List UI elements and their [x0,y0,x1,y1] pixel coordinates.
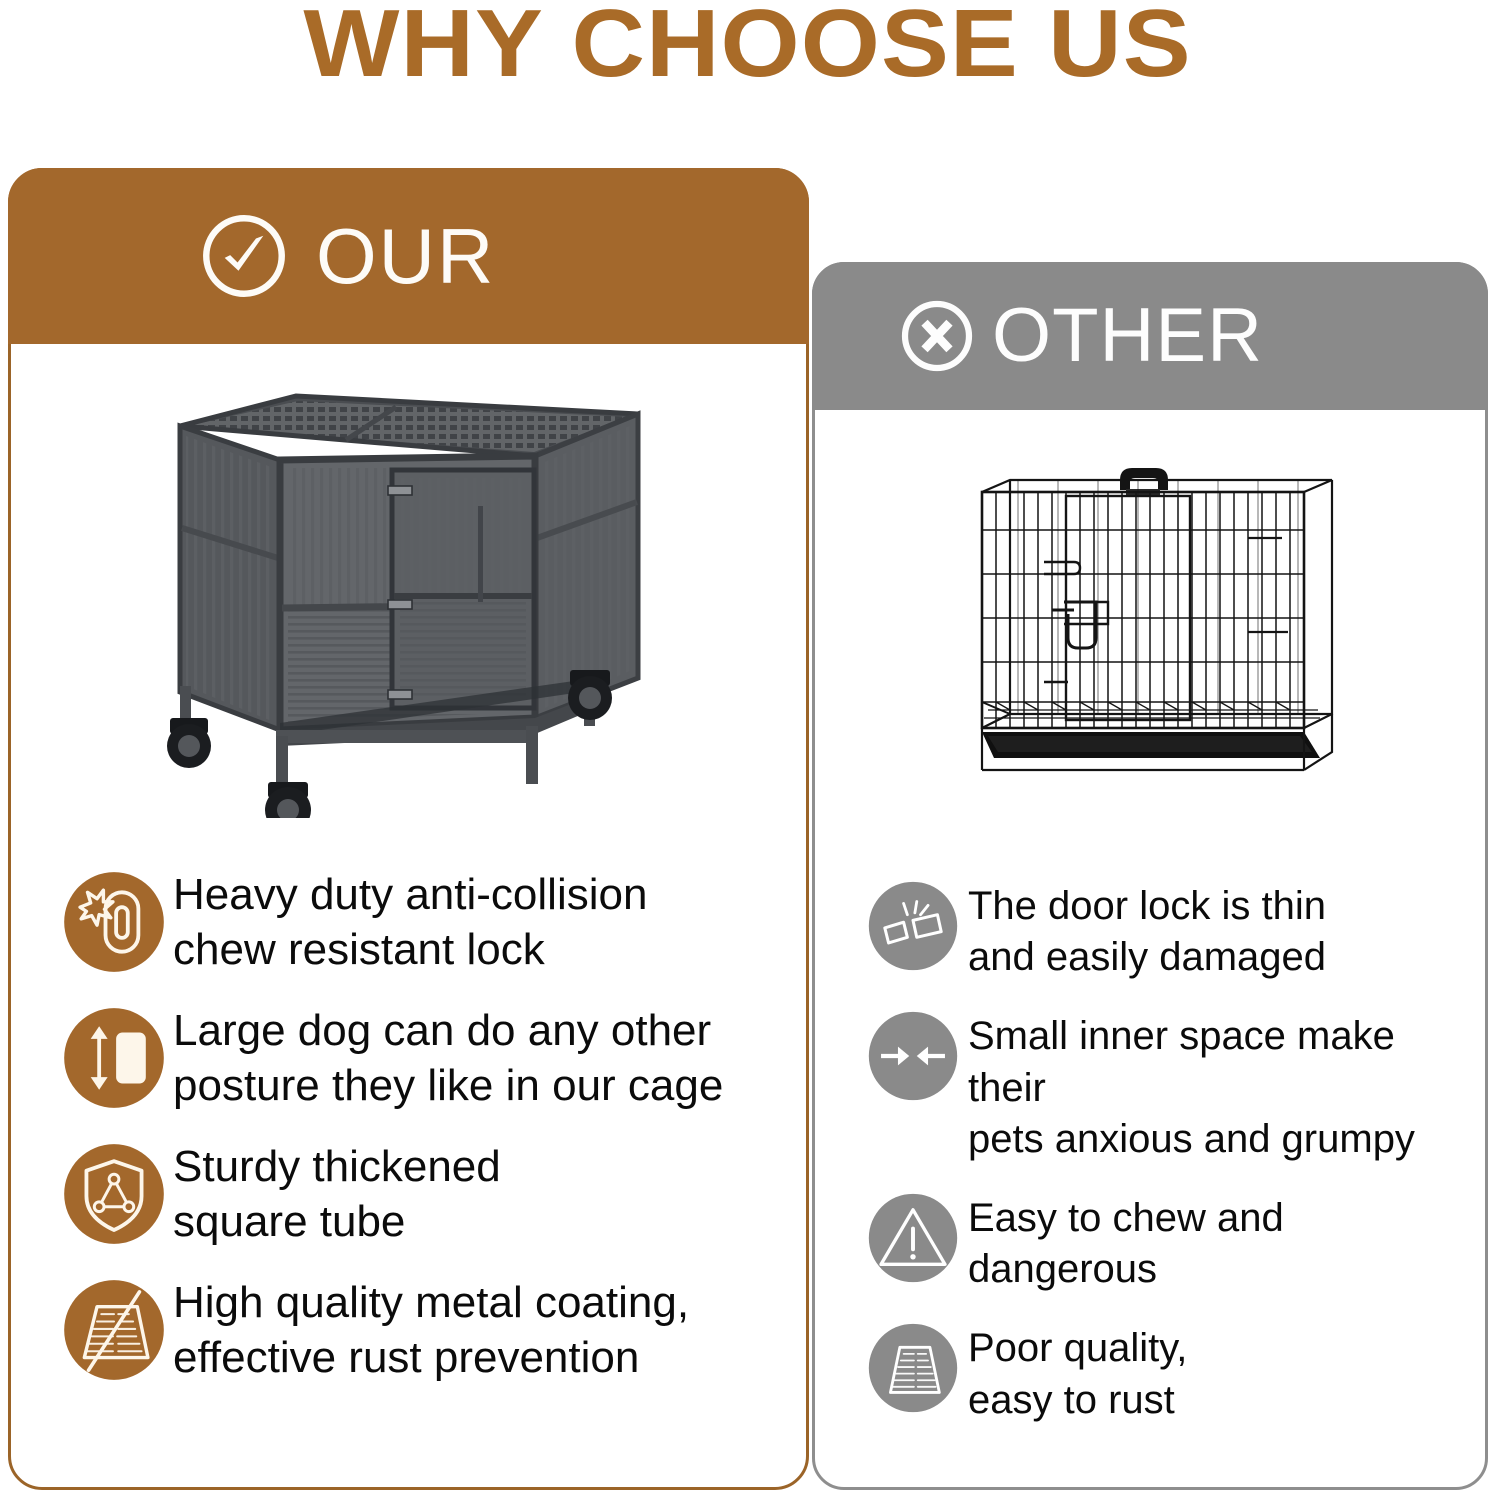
thin-wire-dog-crate-image [948,452,1338,792]
feature-text: The door lock is thin and easily damaged [968,875,1326,983]
our-feature-list: Heavy duty anti-collision chew resistant… [55,865,785,1409]
page-title: WHY CHOOSE US [0,0,1495,92]
feature-item-easy-to-chew: Easy to chew and dangerous [858,1187,1468,1295]
caster-wheel [167,718,211,768]
feature-item-anti-collision-lock: Heavy duty anti-collision chew resistant… [55,865,785,978]
feature-icon-wrap [858,875,968,973]
feature-text: Sturdy thickened square tube [173,1137,501,1250]
our-panel-title: OUR [316,217,495,295]
feature-icon-wrap [858,1317,968,1415]
feature-item-rust-prevention: High quality metal coating, effective ru… [55,1273,785,1386]
feature-text: Easy to chew and dangerous [968,1187,1284,1295]
feature-icon-wrap [858,1005,968,1103]
feature-item-poor-quality-rust: Poor quality, easy to rust [858,1317,1468,1425]
feature-text: Small inner space make their pets anxiou… [968,1005,1468,1165]
heavy-duty-metal-dog-crate-image [140,378,660,818]
feature-item-inner-space: Large dog can do any other posture they … [55,1001,785,1114]
feature-text: Poor quality, easy to rust [968,1317,1187,1425]
feature-icon-wrap [858,1187,968,1285]
plastic-tray [982,732,1320,758]
narrow-space-icon [866,1009,960,1103]
feature-text: Heavy duty anti-collision chew resistant… [173,865,647,978]
feature-icon-wrap [55,1137,173,1247]
x-circle-icon [898,297,976,375]
our-panel-header: OUR [8,168,809,344]
feature-item-thin-door-lock: The door lock is thin and easily damaged [858,875,1468,983]
broken-lock-icon [866,879,960,973]
rusty-surface-icon [866,1321,960,1415]
anti-collision-lock-icon [61,869,167,975]
inner-space-size-icon [61,1005,167,1111]
feature-text: Large dog can do any other posture they … [173,1001,723,1114]
caster-wheel [568,670,612,720]
rust-prevention-coating-icon [61,1277,167,1383]
feature-icon-wrap [55,865,173,975]
feature-item-small-inner-space: Small inner space make their pets anxiou… [858,1005,1468,1165]
other-feature-list: The door lock is thin and easily damaged… [858,875,1468,1448]
caster-wheel [265,782,311,818]
feature-icon-wrap [55,1273,173,1383]
feature-icon-wrap [55,1001,173,1111]
warning-triangle-icon [866,1191,960,1285]
other-panel-header: OTHER [812,262,1488,410]
feature-item-sturdy-square-tube: Sturdy thickened square tube [55,1137,785,1250]
shield-strength-icon [61,1141,167,1247]
other-panel-title: OTHER [992,298,1263,374]
check-circle-icon [198,210,290,302]
feature-text: High quality metal coating, effective ru… [173,1273,689,1386]
